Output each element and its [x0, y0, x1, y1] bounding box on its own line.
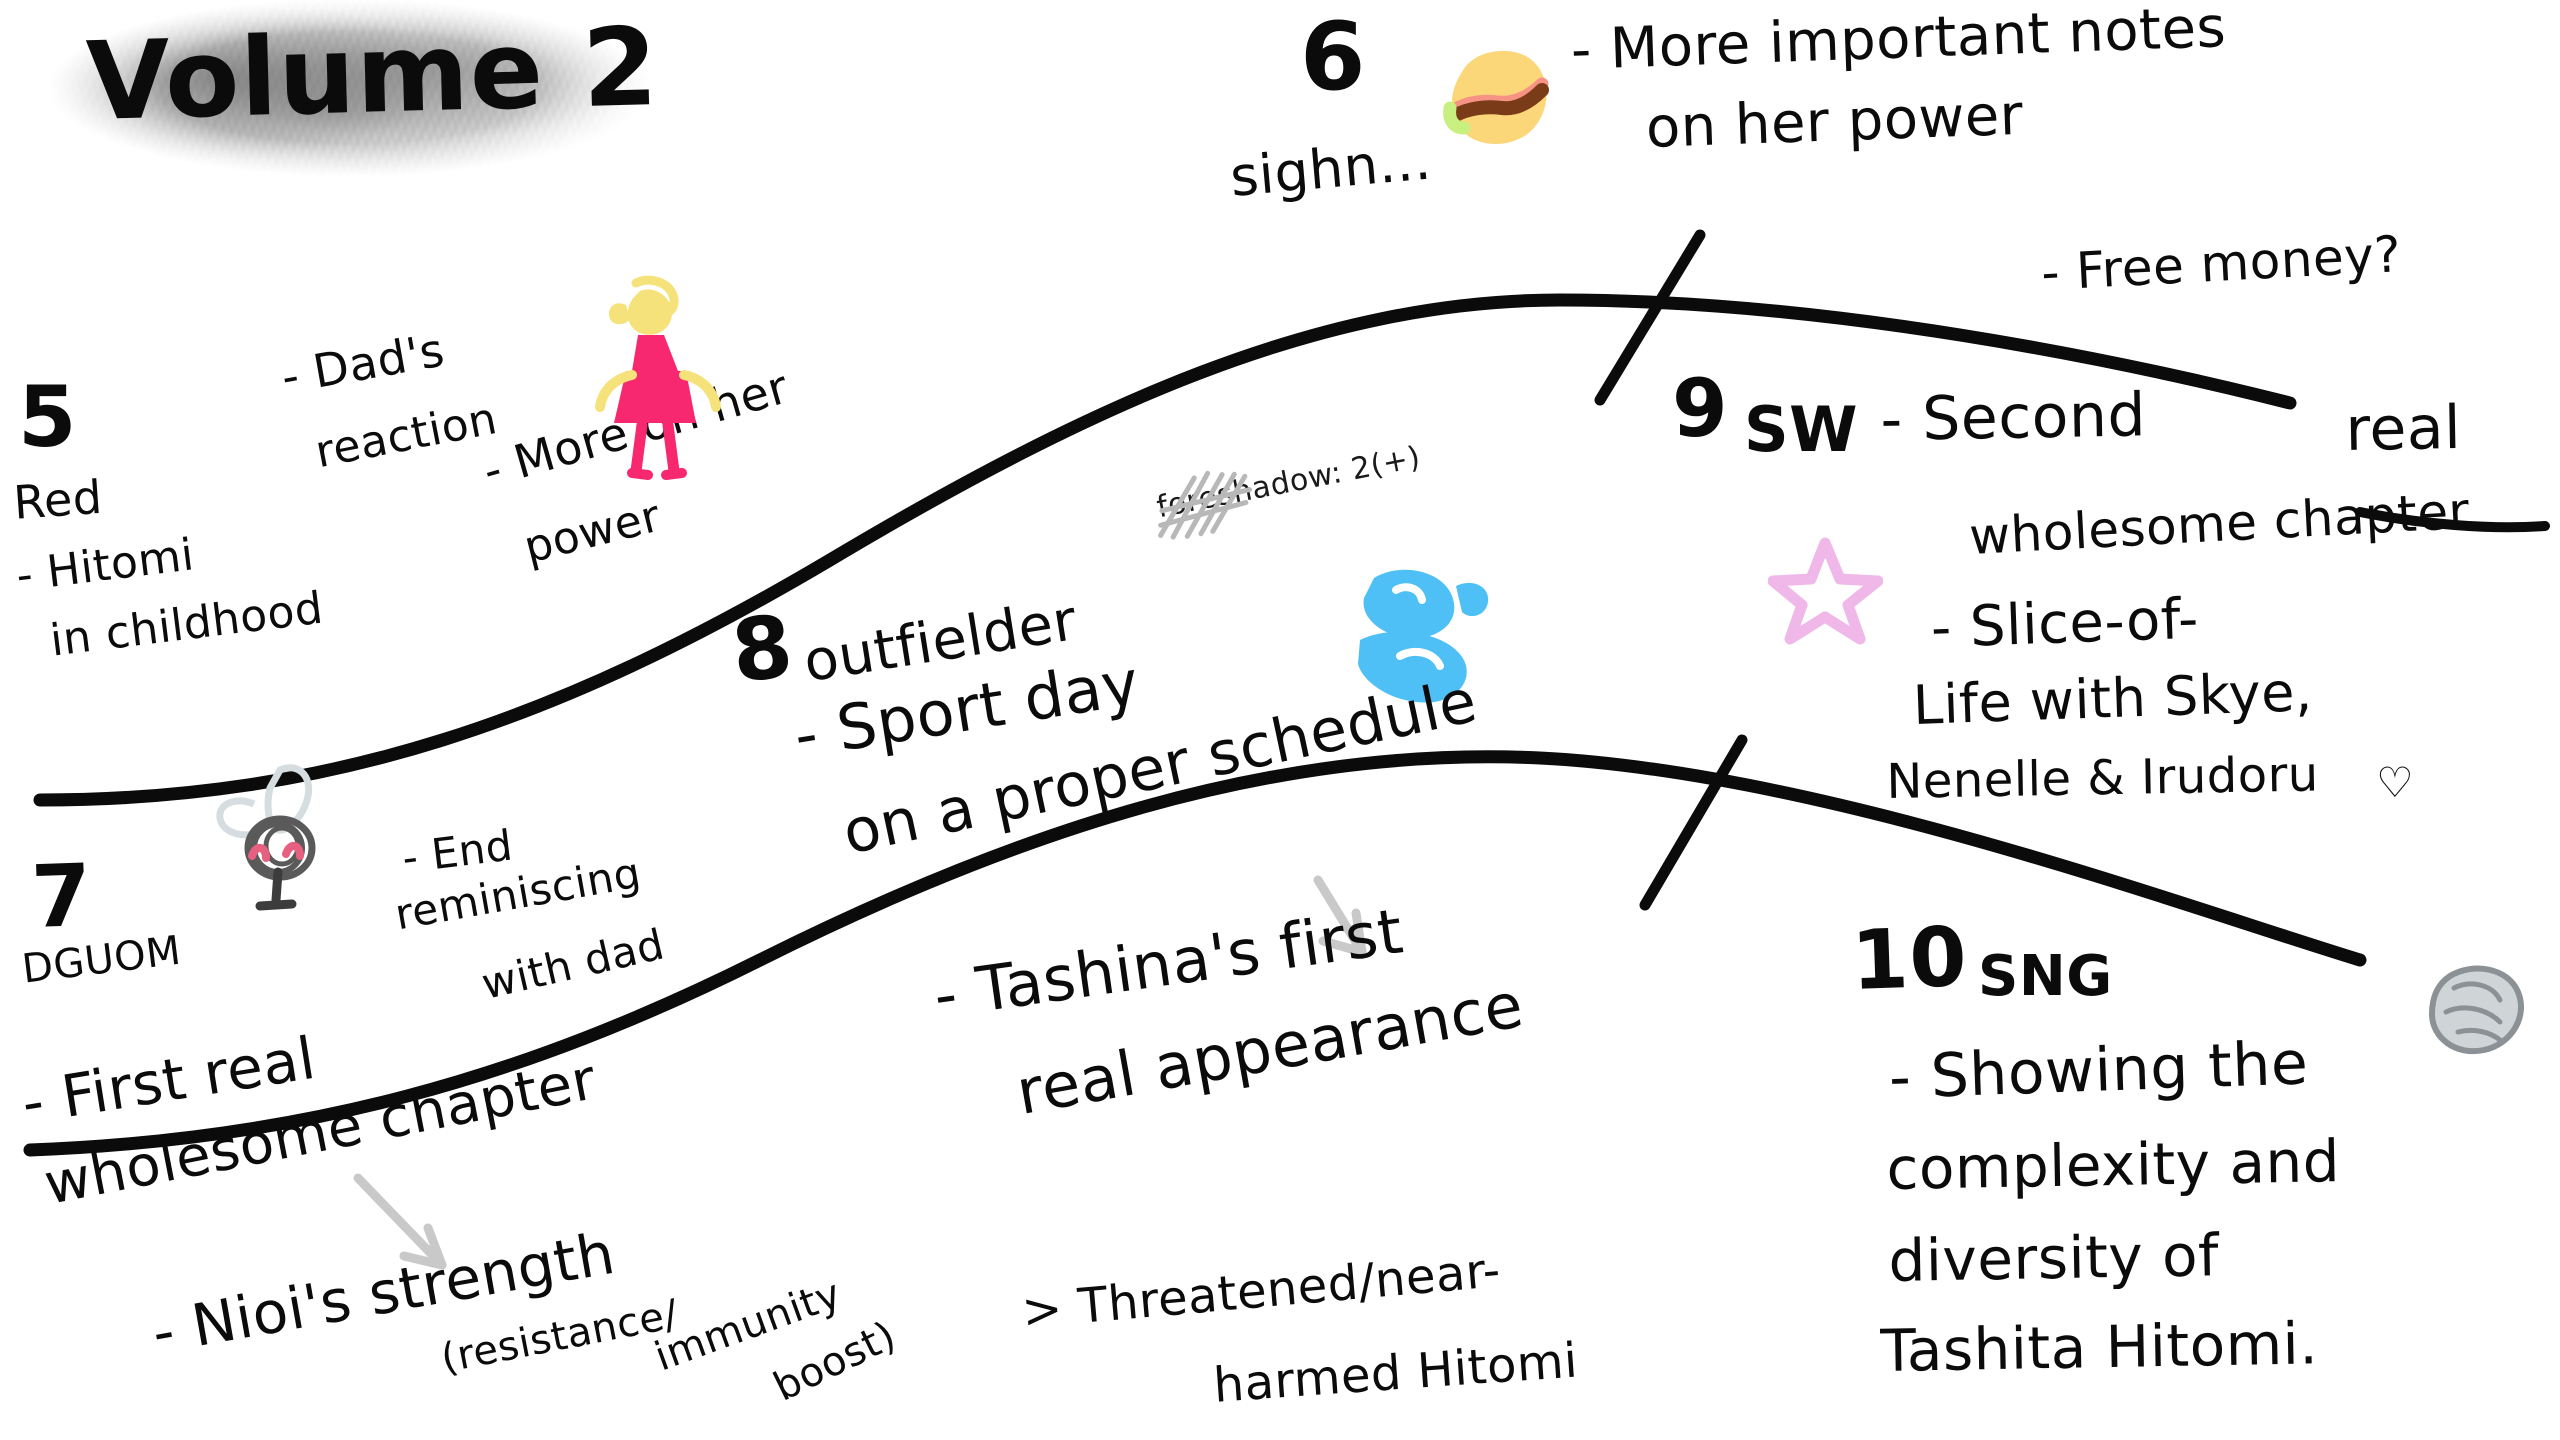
- chapter-5-code: Red: [12, 474, 104, 527]
- heart-doodle: ♡: [2376, 762, 2414, 805]
- chapter-10-number: 10: [1850, 916, 1969, 1004]
- foreshadow-annotation-group: foreshadow: 2(+): [1155, 443, 1424, 524]
- chapter-9-number: 9: [1672, 368, 1729, 450]
- chapter-6-code: sighn...: [1228, 132, 1433, 204]
- chapter-9-note-real: real: [2345, 398, 2462, 461]
- chapter-9-code: SW: [1744, 398, 1858, 461]
- chapter-5-note-reaction: reaction: [312, 397, 501, 476]
- chapter-10-note-1: - Showing the: [1888, 1033, 2309, 1109]
- dancing-girl-doodle: [592, 275, 722, 500]
- title-block: Volume 2: [20, 0, 700, 200]
- chapter-5-note-more-power-2: power: [520, 494, 665, 571]
- chapter-7-number: 7: [30, 853, 94, 943]
- page-title: Volume 2: [85, 13, 660, 138]
- chapter-9-note-life: Life with Skye,: [1912, 664, 2313, 733]
- chapter-10-note-4: Tashita Hitomi.: [1880, 1314, 2319, 1381]
- chapter-8-number: 8: [728, 604, 798, 698]
- chapter-5-note-dads: - Dad's: [278, 326, 448, 401]
- notes-canvas: Volume 2 5 Red - Hitomi in childhood - D…: [0, 0, 2560, 1440]
- chapter-6-number: 6: [1300, 10, 1366, 106]
- scribble-overlay: [1141, 440, 1333, 553]
- chapter-10-note-2: complexity and: [1886, 1132, 2340, 1199]
- chapter-5-note-1: - Hitomi: [14, 533, 197, 599]
- chapter-7-note-withdad: with dad: [478, 923, 668, 1006]
- chapter-6-note-3: - Free money?: [2040, 229, 2402, 299]
- grey-rock-doodle: [2422, 958, 2532, 1063]
- chapter-6-note-1: - More important notes: [1570, 0, 2227, 79]
- chapter-10-note-3: diversity of: [1888, 1226, 2220, 1291]
- chapter-8-note-threatened: > Threatened/near-: [1020, 1246, 1503, 1337]
- chapter-5-note-2: in childhood: [48, 587, 326, 665]
- bee-doodle: [208, 760, 343, 925]
- chapter-9-note-second: - Second: [1880, 385, 2147, 451]
- pink-star-doodle: [1768, 535, 1883, 645]
- chapter-9-note-nenelle: Nenelle & Irudoru: [1886, 750, 2319, 806]
- chapter-6-note-2: on her power: [1645, 87, 2024, 157]
- separator-slash-lower: [1645, 740, 1742, 905]
- chapter-5-number: 5: [18, 375, 77, 461]
- chapter-9-note-wholesome: wholesome chapter: [1968, 486, 2471, 563]
- chapter-10-code: SNG: [1978, 948, 2113, 1005]
- burger-doodle: [1432, 38, 1562, 158]
- chapter-9-note-slice: - Slice-of-: [1930, 591, 2200, 657]
- chapter-8-note-harmed: harmed Hitomi: [1212, 1337, 1579, 1411]
